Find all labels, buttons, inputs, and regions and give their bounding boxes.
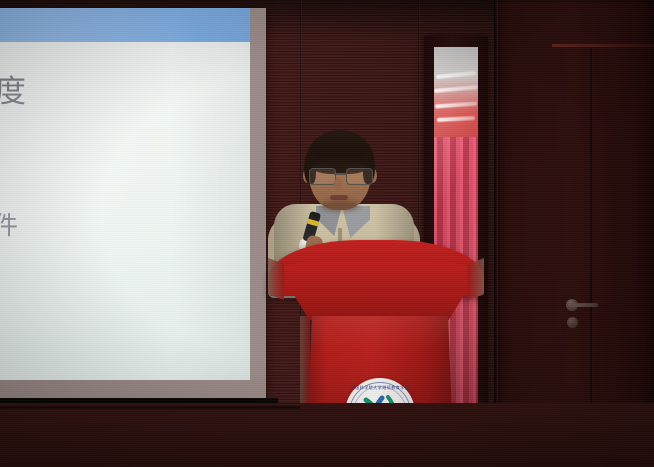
eyeglass-lens-right — [346, 168, 373, 185]
slide-heading-text: 刂度 — [0, 66, 28, 111]
door-head-trim — [552, 44, 654, 47]
projector-glow — [0, 8, 250, 380]
floor — [0, 403, 654, 467]
conference-hall-photo: 刂度 文件 — [0, 0, 654, 467]
floor-wall-edge — [0, 406, 300, 409]
presenter-nose — [334, 178, 342, 192]
door-lock-icon[interactable] — [567, 317, 578, 328]
door-frame — [494, 0, 498, 467]
slide-header-band — [0, 8, 250, 42]
slide-body-text: 文件 — [0, 206, 20, 242]
emblem-top-text: 中国科学院大学继续教育学院 — [345, 385, 415, 391]
door-lever-handle[interactable] — [572, 303, 598, 307]
eyeglass-lens-left — [309, 168, 336, 185]
lectern-top-face — [276, 262, 476, 296]
slide-vignette — [0, 8, 250, 380]
lectern-top-edge-left — [268, 258, 284, 300]
eyeglass-bridge — [334, 173, 346, 175]
presenter-chin-shadow — [320, 200, 360, 212]
projection-screen: 刂度 文件 — [0, 8, 250, 380]
lectern-top-edge-right — [468, 258, 484, 300]
exit-door[interactable] — [494, 0, 654, 467]
lectern-skirt — [292, 292, 466, 320]
